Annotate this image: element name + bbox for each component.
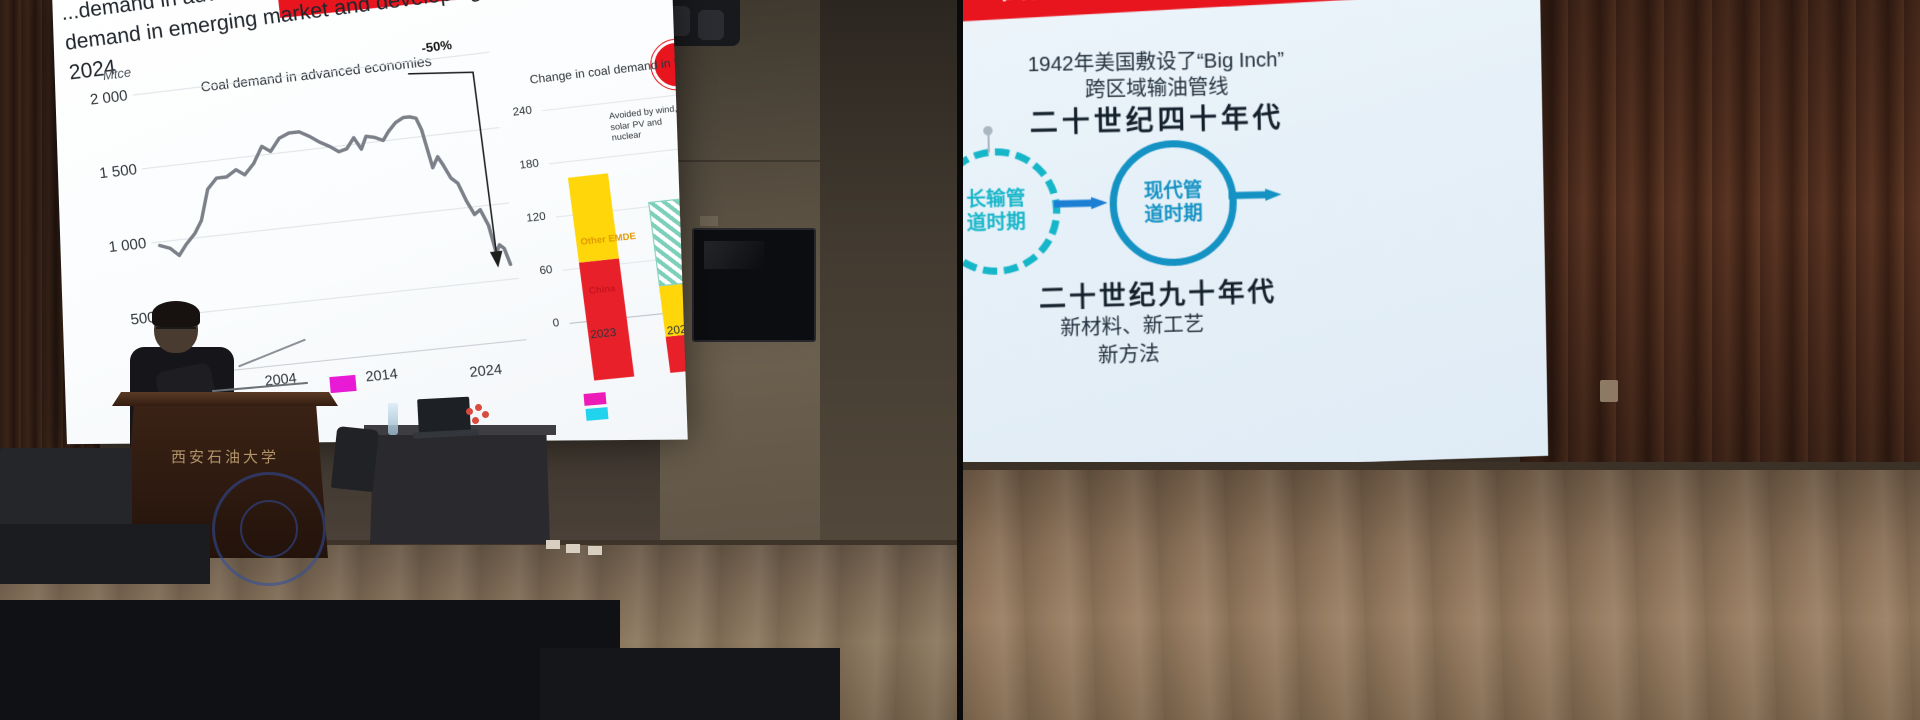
floor-paper bbox=[588, 546, 602, 555]
bar-chart-xtick-2023: 2023 bbox=[590, 326, 617, 341]
floor-university-seal bbox=[212, 472, 326, 586]
laptop-computer bbox=[417, 397, 471, 434]
bar-2023 bbox=[568, 173, 634, 380]
right-slide-red-banner: 国内外研 bbox=[960, 0, 1431, 21]
bar-chart-title: Change in coal demand in EMDE bbox=[529, 53, 688, 87]
right-slide-banner-title: 国内外研 bbox=[1000, 0, 1118, 7]
speaker-glasses-icon bbox=[156, 327, 196, 337]
screen-marker-cyan bbox=[586, 407, 609, 421]
bar-chart-ytick-240: 240 bbox=[512, 106, 514, 118]
flower-arrangement bbox=[464, 404, 490, 434]
front-sofa-lower bbox=[0, 524, 210, 584]
bar-2023-china bbox=[579, 258, 634, 380]
bottom-right-sub1: 新材料、新工艺 bbox=[1060, 308, 1204, 342]
chair bbox=[331, 426, 379, 492]
right-photo-panel: 国内外研 道 1942年美国敷设了“Big Inch” 跨区域输油管线 二十世纪… bbox=[960, 0, 1920, 720]
screenshot-root: 发展现状 ...demand in advanced economies, 19… bbox=[0, 0, 1920, 720]
wall-monitor bbox=[692, 228, 816, 342]
stage-circle-modern-pipe: 现代管 道时期 bbox=[1109, 139, 1238, 268]
line-chart-ytick-1000: 1 000 bbox=[108, 235, 148, 256]
stage-circle-long-distance-pipe-label: 长输管 道时期 bbox=[966, 187, 1026, 236]
foreground-shadow bbox=[0, 600, 620, 720]
line-chart-ytick-2000: 2 000 bbox=[89, 87, 129, 108]
right-slide-canvas: 国内外研 道 1942年美国敷设了“Big Inch” 跨区域输油管线 二十世纪… bbox=[960, 0, 1548, 482]
foreground-shadow-secondary bbox=[540, 648, 840, 720]
right-floor bbox=[960, 470, 1920, 720]
podium-university-name: 西安石油大学 bbox=[171, 446, 279, 467]
podium-top-surface bbox=[112, 392, 338, 406]
bottom-right-sub2: 新方法 bbox=[1098, 337, 1160, 368]
line-chart-ytick-1500: 1 500 bbox=[98, 161, 138, 182]
coal-demand-bar-chart: Change in coal demand in EMDE 240 180 12… bbox=[509, 75, 688, 385]
right-wall-wood-panels bbox=[1520, 0, 1920, 470]
connector-line-top bbox=[987, 130, 989, 152]
bar-chart-ytick-60: 60 bbox=[539, 265, 541, 277]
front-table bbox=[370, 432, 550, 544]
right-projection-screen: 国内外研 道 1942年美国敷设了“Big Inch” 跨区域输油管线 二十世纪… bbox=[960, 0, 1548, 482]
floor-paper bbox=[546, 540, 560, 549]
stage-circle-long-distance-pipe: 长输管 道时期 bbox=[960, 147, 1061, 277]
line-chart-xtick-2024: 2024 bbox=[468, 360, 503, 380]
speaker-hair bbox=[152, 301, 200, 327]
line-chart-xtick-2014: 2014 bbox=[365, 365, 399, 385]
bar-2023-other-emde bbox=[568, 173, 619, 262]
stage-circle-modern-pipe-label: 现代管 道时期 bbox=[1144, 179, 1203, 227]
panel-divider bbox=[957, 0, 963, 720]
wall-sign bbox=[700, 216, 718, 226]
floor-paper bbox=[566, 544, 580, 553]
ceiling-lamp-icon bbox=[698, 10, 724, 40]
wall-socket bbox=[1600, 380, 1618, 402]
left-photo-panel: 发展现状 ...demand in advanced economies, 19… bbox=[0, 0, 960, 720]
bar-chart-ytick-180: 180 bbox=[519, 160, 521, 172]
left-wall-right-panel bbox=[820, 0, 960, 600]
screen-marker-pink bbox=[584, 392, 607, 406]
bar-chart-ytick-120: 120 bbox=[526, 213, 528, 225]
bar-chart-ytick-0: 0 bbox=[552, 317, 554, 329]
laser-marker-magenta bbox=[329, 375, 356, 393]
water-bottle bbox=[388, 403, 398, 435]
arrow-right-icon-3 bbox=[1228, 188, 1281, 201]
bar-chart-avoided-note: Avoided by wind, solar PV and nuclear bbox=[608, 101, 687, 143]
arrow-right-icon-2 bbox=[1054, 197, 1108, 211]
